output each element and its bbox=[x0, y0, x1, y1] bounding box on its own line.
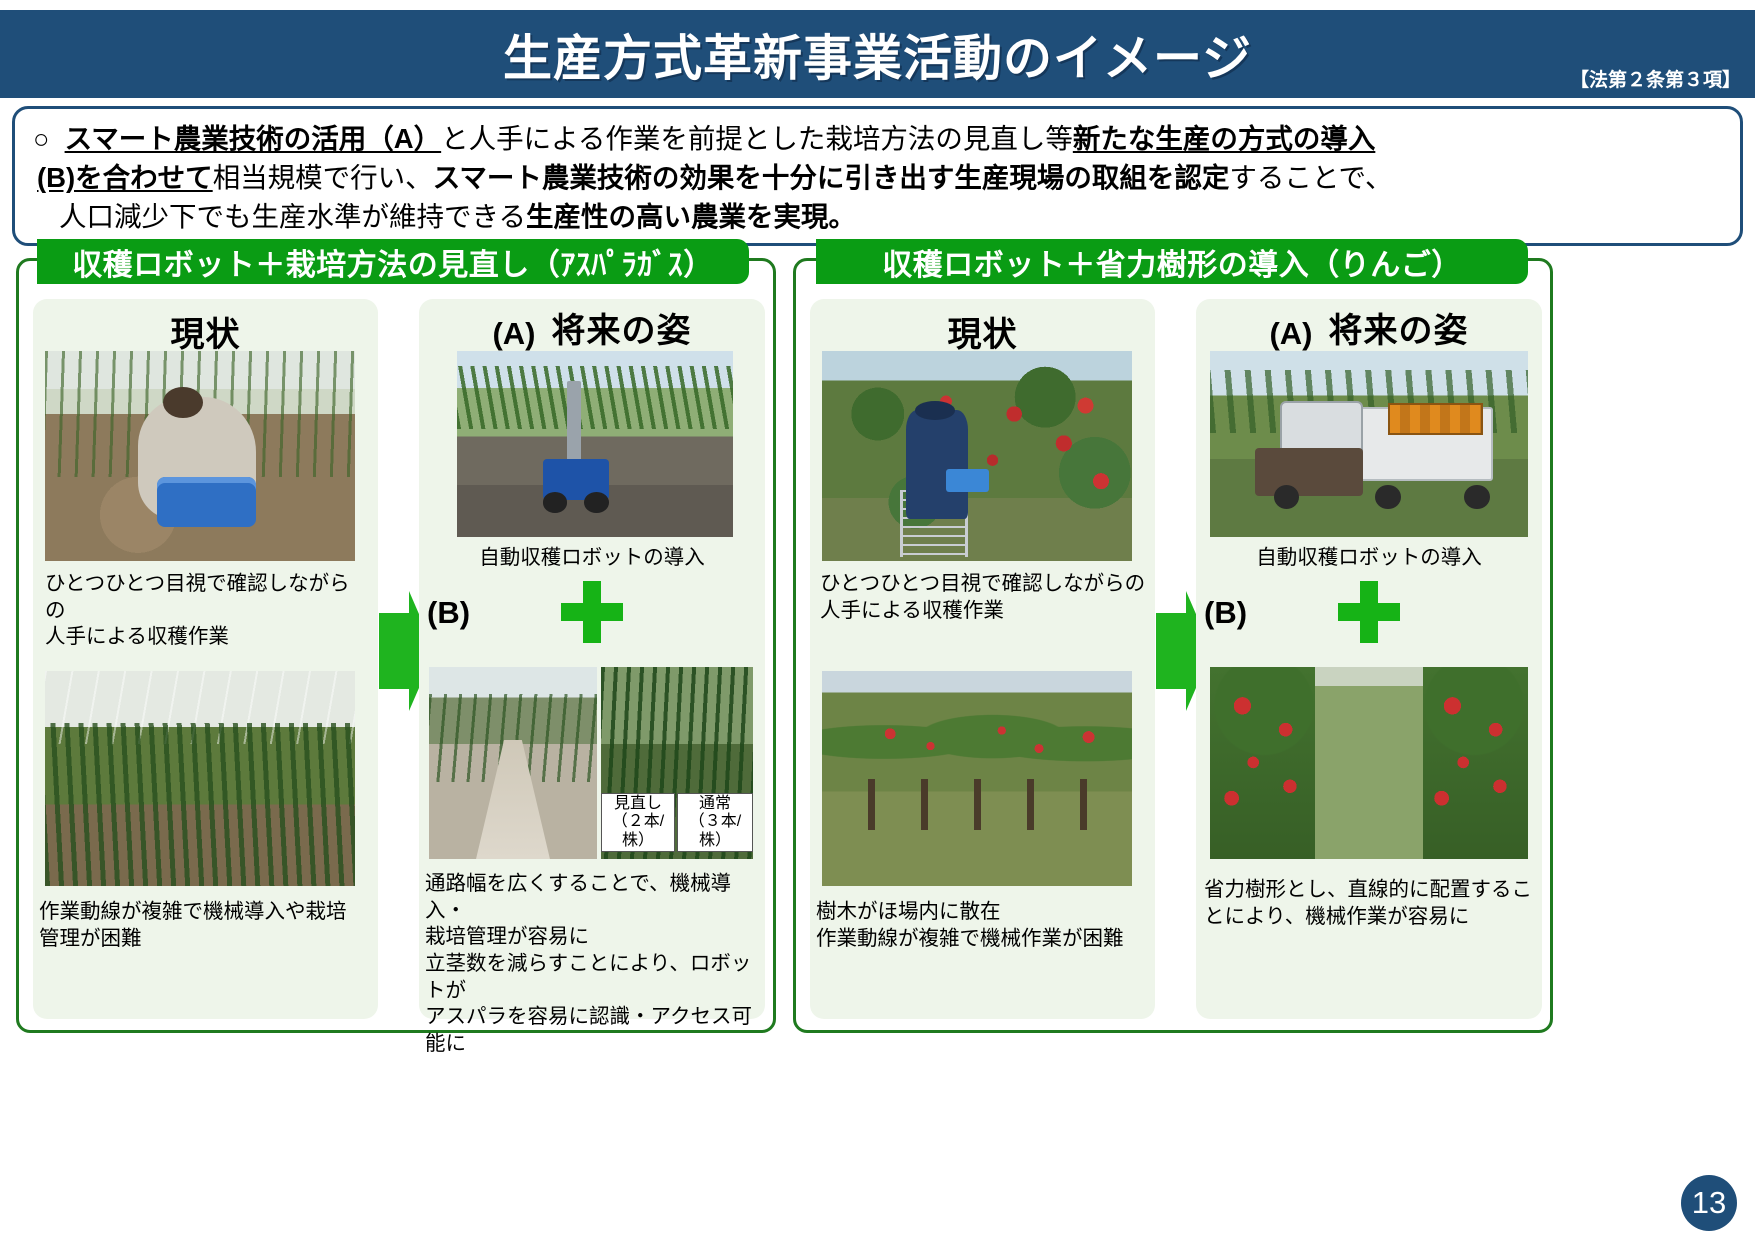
apple-current-caption-top: ひとつひとつ目視で確認しながらの 人手による収穫作業 bbox=[820, 571, 1150, 624]
lead-3b: 生産性の高い農業を実現。 bbox=[526, 201, 856, 232]
asparagus-current-column: 現状 ひとつひとつ目視で確認しながらの 人手による収穫作業 作業動線が複雑で機械… bbox=[33, 299, 378, 1019]
page-title: 生産方式革新事業活動のイメージ bbox=[503, 19, 1252, 90]
lead-1a: スマート農業技術の活用（A） bbox=[65, 123, 442, 154]
apple-current-heading: 現状 bbox=[810, 299, 1155, 356]
law-reference: 【法第２条第３項】 bbox=[1570, 65, 1741, 92]
apple-tag-a: (A) bbox=[1269, 316, 1312, 352]
lead-line-3: 人口減少下でも生産水準が維持できる生産性の高い農業を実現。 bbox=[33, 197, 1724, 236]
lead-1c: 新たな生産の方式の導入 bbox=[1073, 123, 1376, 154]
linear-apple-orchard-photo bbox=[1210, 667, 1528, 859]
lead-2a: (B)を合わせて bbox=[37, 162, 213, 193]
apple-current-column: 現状 ひとつひとつ目視で確認しながらの 人手による収穫作業 樹木がほ場内に散在 … bbox=[810, 299, 1155, 1019]
apple-manual-harvest-photo bbox=[822, 351, 1132, 561]
asparagus-harvest-robot-photo bbox=[457, 351, 733, 537]
asparagus-tag-a: (A) bbox=[492, 316, 535, 352]
lead-2c: スマート農業技術の効果を十分に引き出す生産現場の取組を認定 bbox=[433, 162, 1230, 193]
overlay-label-revised: 見直し （２本/株） bbox=[601, 793, 675, 852]
asparagus-current-caption-bottom: 作業動線が複雑で機械導入や栽培 管理が困難 bbox=[39, 899, 374, 952]
page-number: 13 bbox=[1681, 1175, 1737, 1231]
apple-current-caption-bottom: 樹木がほ場内に散在 作業動線が複雑で機械作業が困難 bbox=[816, 899, 1156, 952]
apple-future-caption-a: 自動収穫ロボットの導入 bbox=[1196, 545, 1542, 572]
panel-asparagus: 収穫ロボット＋栽培方法の見直し（ｱｽﾊﾟﾗｶﾞｽ） 現状 ひとつひとつ目視で確認… bbox=[16, 258, 776, 1033]
slide: 生産方式革新事業活動のイメージ 【法第２条第３項】 ○ スマート農業技術の活用（… bbox=[0, 0, 1755, 1241]
apple-harvest-robot-photo bbox=[1210, 351, 1528, 537]
lead-3a: 人口減少下でも生産水準が維持できる bbox=[59, 201, 526, 232]
asparagus-manual-harvest-photo bbox=[45, 351, 355, 561]
asparagus-future-heading-row: (A) 将来の姿 bbox=[419, 303, 765, 352]
asparagus-future-heading: 将来の姿 bbox=[552, 303, 692, 352]
asparagus-future-caption-b: 通路幅を広くすることで、機械導入・ 栽培管理が容易に 立茎数を減らすことにより、… bbox=[425, 871, 765, 1057]
asparagus-field-photo bbox=[45, 671, 355, 886]
lead-2b: 相当規模で行い、 bbox=[213, 162, 433, 193]
lead-line-1: ○ スマート農業技術の活用（A）と人手による作業を前提とした栽培方法の見直し等新… bbox=[33, 119, 1724, 158]
asparagus-current-heading: 現状 bbox=[33, 299, 378, 356]
overlay-label-normal: 通常 （３本/株） bbox=[677, 793, 753, 852]
lead-line-2: (B)を合わせて相当規模で行い、スマート農業技術の効果を十分に引き出す生産現場の… bbox=[33, 158, 1724, 197]
lead-paragraph-box: ○ スマート農業技術の活用（A）と人手による作業を前提とした栽培方法の見直し等新… bbox=[12, 106, 1743, 246]
asparagus-current-caption-top: ひとつひとつ目視で確認しながらの 人手による収穫作業 bbox=[45, 571, 365, 651]
title-bar: 生産方式革新事業活動のイメージ 【法第２条第３項】 bbox=[0, 10, 1755, 98]
asparagus-future-caption-a: 自動収穫ロボットの導入 bbox=[419, 545, 765, 572]
asparagus-tag-b: (B) bbox=[427, 595, 470, 631]
bullet-icon: ○ bbox=[33, 124, 49, 154]
panel-apple: 収穫ロボット＋省力樹形の導入（りんご） 現状 ひとつひとつ目視で確認しながらの … bbox=[793, 258, 1553, 1033]
panel-asparagus-banner-label: 収穫ロボット＋栽培方法の見直し（ｱｽﾊﾟﾗｶﾞｽ） bbox=[72, 240, 714, 284]
scattered-apple-orchard-photo bbox=[822, 671, 1132, 886]
apple-future-column: (A) 将来の姿 自動収穫ロボットの導入 (B) 省力樹形とし、直線的に配置する… bbox=[1196, 299, 1542, 1019]
panel-apple-banner-label: 収穫ロボット＋省力樹形の導入（りんご） bbox=[882, 240, 1462, 284]
apple-future-heading-row: (A) 将来の姿 bbox=[1196, 303, 1542, 352]
lead-2d: することで、 bbox=[1229, 162, 1392, 193]
plus-icon bbox=[561, 581, 623, 643]
lead-1b: と人手による作業を前提とした栽培方法の見直し等 bbox=[441, 123, 1073, 154]
panel-asparagus-banner: 収穫ロボット＋栽培方法の見直し（ｱｽﾊﾟﾗｶﾞｽ） bbox=[37, 239, 749, 284]
plus-icon bbox=[1338, 581, 1400, 643]
wide-path-greenhouse-photo bbox=[429, 667, 597, 859]
asparagus-future-column: (A) 将来の姿 自動収穫ロボットの導入 (B) 見直し （２本/株） 通常 （… bbox=[419, 299, 765, 1019]
apple-future-caption-b: 省力樹形とし、直線的に配置するこ とにより、機械作業が容易に bbox=[1204, 877, 1540, 930]
apple-future-heading: 将来の姿 bbox=[1329, 303, 1469, 352]
apple-tag-b: (B) bbox=[1204, 595, 1247, 631]
panel-apple-banner: 収穫ロボット＋省力樹形の導入（りんご） bbox=[816, 239, 1528, 284]
